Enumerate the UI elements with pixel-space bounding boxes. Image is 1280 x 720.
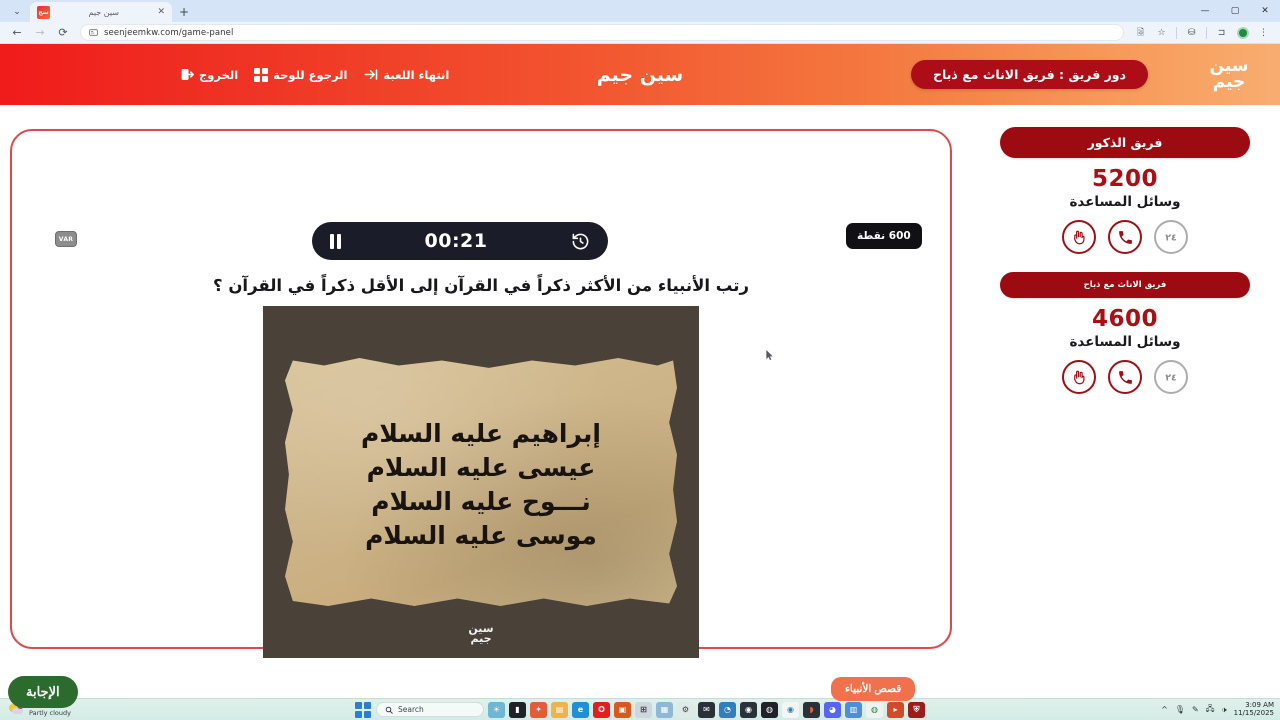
taskbar-app-opera[interactable]: O bbox=[593, 702, 610, 718]
reload-button[interactable]: ⟳ bbox=[53, 24, 73, 42]
question-media-image: إبراهيم عليه السلام عيسى عليه السلام نــ… bbox=[263, 306, 699, 658]
parchment-line: موسى عليه السلام bbox=[297, 522, 665, 550]
browser-toolbar: ← → ⟳ seenjeemkw.com/game-panel 🗟 ☆ ⛁ ⊐ … bbox=[0, 22, 1280, 44]
svg-text:٢٤: ٢٤ bbox=[1165, 233, 1177, 244]
window-maximize-button[interactable]: ▢ bbox=[1220, 0, 1250, 22]
tray-date: 11/15/2025 bbox=[1234, 710, 1274, 717]
windows-start-icon[interactable] bbox=[355, 702, 372, 718]
mic-icon[interactable]: 🎙 bbox=[1175, 705, 1185, 714]
parchment-line: إبراهيم عليه السلام bbox=[297, 420, 665, 448]
volume-icon[interactable]: 🕩 bbox=[1222, 705, 1227, 715]
game-panel: VAR 00:21 600 نقطة رتب الأنبياء من الأكث… bbox=[0, 105, 970, 698]
taskbar-app-brave[interactable]: ◗ bbox=[803, 702, 820, 718]
taskbar-app-terminal[interactable]: ▸ bbox=[887, 702, 904, 718]
browser-tab-strip: ⌄ سج سين جيم ✕ + — ▢ ✕ bbox=[0, 0, 1280, 22]
two-answers-icon[interactable]: ٢٤ bbox=[1154, 220, 1188, 254]
taskbar-app-office[interactable]: ▣ bbox=[614, 702, 631, 718]
taskbar-app-settings[interactable]: ⚙ bbox=[677, 702, 694, 718]
points-badge: 600 نقطة bbox=[846, 223, 922, 249]
taskbar-app-calculator[interactable]: ⊞ bbox=[635, 702, 652, 718]
tab-favicon-icon: سج bbox=[37, 6, 50, 19]
exit-button[interactable]: الخروج bbox=[180, 68, 238, 82]
teams-sidebar: فريق الذكور 5200 وسائل المساعدة ٢٤ bbox=[970, 105, 1280, 698]
extensions-icon[interactable]: ⛁ bbox=[1182, 24, 1201, 42]
toolbar-divider bbox=[1176, 27, 1177, 39]
app-header: سين جيم دور فريق : فريق الاناث مع ذباح س… bbox=[0, 44, 1280, 105]
watermark-line-2: جيم bbox=[468, 634, 493, 644]
logo-line-2: جيم bbox=[1210, 75, 1249, 91]
current-turn-badge: دور فريق : فريق الاناث مع ذباح bbox=[911, 60, 1148, 89]
taskbar-app-edge[interactable]: e bbox=[572, 702, 589, 718]
team-helpers-label-2: وسائل المساعدة bbox=[1000, 334, 1250, 350]
site-info-icon[interactable] bbox=[89, 28, 98, 37]
parchment-background: إبراهيم عليه السلام عيسى عليه السلام نــ… bbox=[285, 358, 677, 606]
question-text: رتب الأنبياء من الأكثر ذكراً في القرآن إ… bbox=[0, 276, 962, 295]
team-name-2[interactable]: فريق الاناث مع ذباح bbox=[1000, 272, 1250, 298]
pause-icon[interactable] bbox=[330, 234, 341, 249]
main-area: VAR 00:21 600 نقطة رتب الأنبياء من الأكث… bbox=[0, 105, 1280, 698]
header-actions: انتهاء اللعبة الرجوع للوحة الخروج bbox=[180, 68, 449, 82]
taskbar-app-store[interactable]: ✦ bbox=[530, 702, 547, 718]
back-to-board-button[interactable]: الرجوع للوحة bbox=[254, 68, 347, 82]
phone-call-icon[interactable] bbox=[1108, 360, 1142, 394]
back-to-board-label: الرجوع للوحة bbox=[273, 68, 347, 82]
taskbar-app-weather[interactable]: ☀ bbox=[488, 702, 505, 718]
team-helpers-1: ٢٤ bbox=[1000, 220, 1250, 254]
exit-label: الخروج bbox=[199, 68, 238, 82]
tab-list-chevron-icon[interactable]: ⌄ bbox=[4, 2, 30, 22]
category-button[interactable]: قصص الأنبياء bbox=[831, 677, 915, 701]
timer-value: 00:21 bbox=[425, 230, 488, 252]
team-name-1[interactable]: فريق الذكور bbox=[1000, 127, 1250, 158]
network-icon[interactable]: 🖧 bbox=[1206, 703, 1215, 717]
grid-board-icon bbox=[254, 68, 268, 82]
taskbar-app-folder[interactable]: ▤ bbox=[551, 702, 568, 718]
two-fingers-icon[interactable] bbox=[1062, 220, 1096, 254]
taskbar-app-file-explorer-dark[interactable]: ▮ bbox=[509, 702, 526, 718]
page-title: سين جيم bbox=[597, 64, 684, 86]
taskbar-app-camera[interactable]: ◉ bbox=[740, 702, 757, 718]
team-helpers-2: ٢٤ bbox=[1000, 360, 1250, 394]
chrome-menu-icon[interactable]: ⋮ bbox=[1254, 24, 1273, 42]
two-fingers-icon[interactable] bbox=[1062, 360, 1096, 394]
new-tab-button[interactable]: + bbox=[172, 2, 196, 22]
logout-door-icon bbox=[180, 68, 194, 81]
phone-call-icon[interactable] bbox=[1108, 220, 1142, 254]
team-helpers-label-1: وسائل المساعدة bbox=[1000, 194, 1250, 210]
toolbar-divider-2 bbox=[1206, 27, 1207, 39]
show-answer-button[interactable]: الإجابة bbox=[8, 676, 78, 708]
windows-taskbar: 1 25°C Partly cloudy Search ☀ ▮ ✦ ▤ e O … bbox=[0, 698, 1280, 720]
browser-tab[interactable]: سج سين جيم ✕ bbox=[30, 2, 172, 22]
taskbar-center-group: Search ☀ ▮ ✦ ▤ e O ▣ ⊞ ▦ ⚙ ✉ ◔ ◉ ◍ ◉ ◗ ◕… bbox=[355, 702, 925, 718]
forward-button[interactable]: → bbox=[30, 24, 50, 42]
taskbar-search-box[interactable]: Search bbox=[376, 702, 484, 717]
address-bar-url: seenjeemkw.com/game-panel bbox=[104, 28, 233, 38]
taskbar-app-analytics[interactable]: ▥ bbox=[845, 702, 862, 718]
end-game-label: انتهاء اللعبة bbox=[383, 68, 449, 82]
reset-history-icon[interactable] bbox=[571, 232, 590, 251]
team-score-2: 4600 bbox=[1000, 306, 1250, 332]
tab-close-icon[interactable]: ✕ bbox=[157, 7, 165, 17]
address-bar[interactable]: seenjeemkw.com/game-panel bbox=[80, 24, 1124, 41]
back-button[interactable]: ← bbox=[7, 24, 27, 42]
taskbar-app-green[interactable]: ◍ bbox=[866, 702, 883, 718]
end-game-button[interactable]: انتهاء اللعبة bbox=[363, 68, 449, 82]
media-watermark-logo: سين جيم bbox=[468, 624, 493, 644]
translate-icon[interactable]: 🗟 bbox=[1131, 24, 1150, 42]
taskbar-app-browser[interactable]: ◍ bbox=[761, 702, 778, 718]
taskbar-search-label: Search bbox=[398, 705, 424, 714]
profile-avatar[interactable] bbox=[1233, 24, 1252, 42]
two-answers-icon[interactable]: ٢٤ bbox=[1154, 360, 1188, 394]
window-close-button[interactable]: ✕ bbox=[1250, 0, 1280, 22]
pen-icon[interactable]: ✎ bbox=[1192, 705, 1199, 714]
taskbar-app-photos[interactable]: ▦ bbox=[656, 702, 673, 718]
exit-arrow-icon bbox=[363, 68, 378, 81]
parchment-line: عيسى عليه السلام bbox=[297, 454, 665, 482]
taskbar-app-mail[interactable]: ✉ bbox=[698, 702, 715, 718]
taskbar-app-discord[interactable]: ◕ bbox=[824, 702, 841, 718]
bookmark-star-icon[interactable]: ☆ bbox=[1152, 24, 1171, 42]
side-panel-icon[interactable]: ⊐ bbox=[1212, 24, 1231, 42]
team-card-2: فريق الاناث مع ذباح 4600 وسائل المساعدة … bbox=[1000, 272, 1250, 394]
taskbar-app-drive[interactable]: ◔ bbox=[719, 702, 736, 718]
window-controls: — ▢ ✕ bbox=[1190, 0, 1280, 22]
weather-condition: Partly cloudy bbox=[29, 710, 71, 717]
var-badge-button[interactable]: VAR bbox=[55, 231, 77, 247]
system-tray: ^ 🎙 ✎ 🖧 🕩 3:09 AM 11/15/2025 bbox=[1161, 702, 1274, 717]
toolbar-icon-group: 🗟 ☆ ⛁ ⊐ ⋮ bbox=[1131, 24, 1273, 42]
app-logo[interactable]: سين جيم bbox=[1184, 59, 1280, 90]
page-viewport: سين جيم دور فريق : فريق الاناث مع ذباح س… bbox=[0, 44, 1280, 698]
taskbar-app-shield[interactable]: ⛨ bbox=[908, 702, 925, 718]
window-minimize-button[interactable]: — bbox=[1190, 0, 1220, 22]
timer-bar: 00:21 bbox=[312, 222, 608, 260]
tray-chevron-icon[interactable]: ^ bbox=[1161, 705, 1168, 714]
tab-title: سين جيم bbox=[56, 8, 151, 17]
parchment-line: نـــوح عليه السلام bbox=[297, 488, 665, 516]
svg-text:٢٤: ٢٤ bbox=[1165, 373, 1177, 384]
taskbar-app-chrome[interactable]: ◉ bbox=[782, 702, 799, 718]
taskbar-clock[interactable]: 3:09 AM 11/15/2025 bbox=[1234, 702, 1274, 717]
team-card-1: فريق الذكور 5200 وسائل المساعدة ٢٤ bbox=[1000, 127, 1250, 254]
team-score-1: 5200 bbox=[1000, 166, 1250, 192]
